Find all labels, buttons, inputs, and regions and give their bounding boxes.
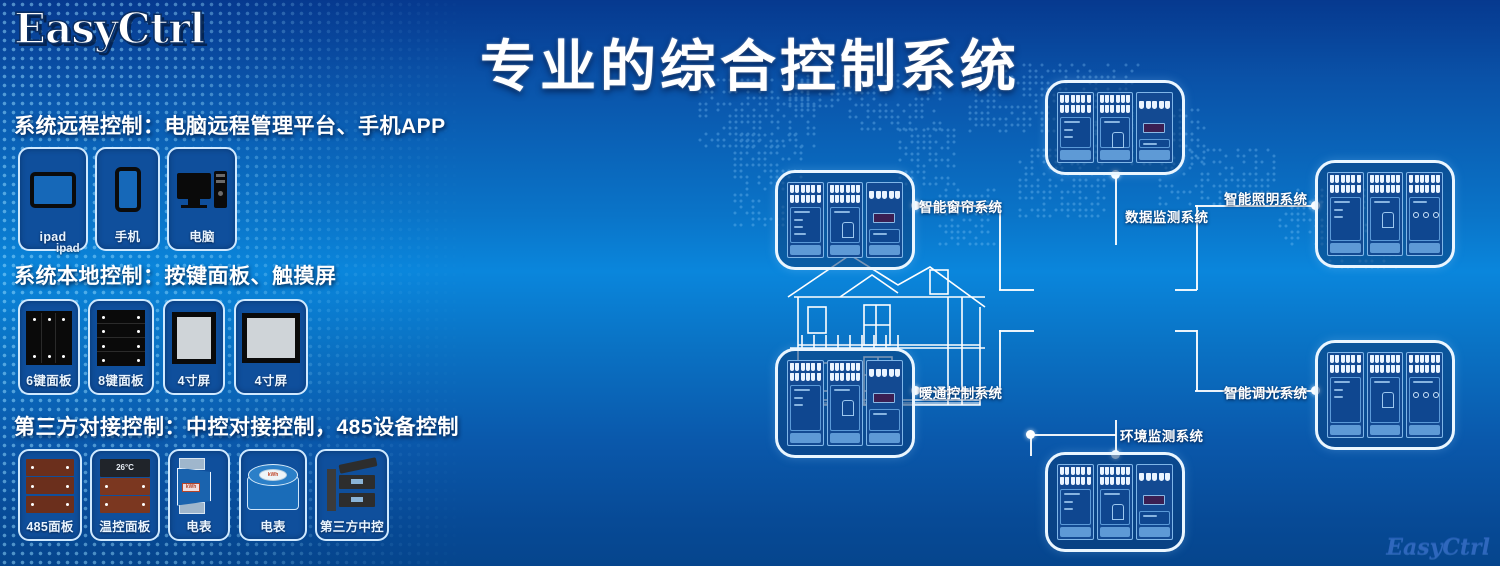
node-label-smart-curtain-system: 智能窗帘系统 (919, 196, 1002, 216)
device-card-label: 8键面板 (98, 374, 144, 389)
device-card-label: 温控面板 (99, 520, 150, 535)
device-card-label: 第三方中控 (320, 520, 384, 535)
device-card-label: 电表 (260, 520, 286, 535)
wire-dimming-v (1196, 330, 1198, 391)
round-meter-icon: kWh (241, 451, 305, 520)
thermostat-panel-icon: 26°C (92, 451, 158, 520)
device-card-label: 电脑 (189, 230, 215, 245)
device-card-4inch-screen-1[interactable]: 4寸屏 (163, 299, 225, 395)
node-label-smart-dimming-system: 智能调光系统 (1224, 382, 1307, 402)
system-topology-diagram: 智能窗帘系统 (630, 0, 1500, 566)
device-card-thermostat-panel[interactable]: 26°C 温控面板 (90, 449, 160, 541)
controller-modules (1057, 92, 1173, 163)
device-card-round-meter[interactable]: kWh 电表 (239, 449, 307, 541)
controller-module (787, 182, 824, 258)
device-card-label: 485面板 (26, 520, 73, 535)
wire-env-h (1030, 434, 1116, 436)
device-card-485-panel[interactable]: 485面板 (18, 449, 82, 541)
node-smart-dimming-system[interactable] (1315, 340, 1455, 450)
wire-data-v (1115, 175, 1117, 245)
brand-logo: EasyCtrl (14, 4, 204, 53)
controller-modules (1327, 352, 1443, 438)
controller-module (1406, 352, 1443, 438)
device-card-8key-panel[interactable]: 8键面板 (88, 299, 154, 395)
wire-curtain-in (999, 289, 1034, 291)
node-environment-monitoring-system[interactable] (1045, 452, 1185, 552)
tablet-icon (20, 149, 86, 230)
device-card-label: 电表 (186, 520, 212, 535)
din-meter-icon: kWh (170, 451, 228, 520)
controller-modules (787, 360, 903, 446)
controller-modules (787, 182, 903, 258)
device-card-phone[interactable]: 手机 (95, 147, 160, 251)
node-label-data-monitoring-system: 数据监测系统 (1125, 206, 1208, 226)
controller-module (866, 360, 903, 446)
controller-module (1097, 464, 1134, 540)
controller-module (1367, 172, 1404, 256)
controller-module (827, 360, 864, 446)
device-card-label: 4寸屏 (178, 374, 211, 389)
device-card-ipad[interactable]: ipad (18, 147, 88, 251)
controller-module (1327, 172, 1364, 256)
section-heading-local-control: 系统本地控制：按键面板、触摸屏 (14, 260, 337, 290)
meter-display-value: kWh (268, 472, 279, 478)
device-card-label: 6键面板 (26, 374, 72, 389)
node-label-environment-monitoring-system: 环境监测系统 (1120, 425, 1203, 445)
watermark: EasyCtrl (1386, 534, 1490, 560)
node-data-monitoring-system[interactable] (1045, 80, 1185, 175)
node-label-hvac-control-system: 暖通控制系统 (919, 382, 1002, 402)
third-party-controller-icon (317, 451, 387, 520)
ipad-sub-note: ipad (56, 243, 80, 255)
desktop-computer-icon (169, 149, 235, 230)
smartphone-icon (97, 149, 158, 230)
device-card-4inch-screen-2[interactable]: 4寸屏 (234, 299, 308, 395)
device-card-label: 4寸屏 (255, 374, 288, 389)
four-inch-screen-wide-icon (236, 301, 306, 374)
rs485-panel-icon (20, 451, 80, 520)
node-smart-lighting-system[interactable] (1315, 160, 1455, 268)
controller-modules (1057, 464, 1173, 540)
controller-module (787, 360, 824, 446)
controller-module (1136, 464, 1173, 540)
device-card-computer[interactable]: 电脑 (167, 147, 237, 251)
node-label-smart-lighting-system: 智能照明系统 (1224, 188, 1307, 208)
eight-key-panel-icon (90, 301, 152, 374)
controller-module (1367, 352, 1404, 438)
wire-hvac-in (999, 330, 1034, 332)
section-heading-third-party-control: 第三方对接控制：中控对接控制，485设备控制 (14, 411, 459, 441)
thermostat-display-value: 26°C (116, 463, 134, 472)
controller-module (866, 182, 903, 258)
device-card-6key-panel[interactable]: 6键面板 (18, 299, 80, 395)
controller-module (1406, 172, 1443, 256)
controller-modules (1327, 172, 1443, 256)
junction-dot-env (1026, 430, 1035, 439)
four-inch-screen-icon (165, 301, 223, 374)
device-card-din-meter[interactable]: kWh 电表 (168, 449, 230, 541)
controller-module (1327, 352, 1364, 438)
controller-module (1136, 92, 1173, 163)
device-card-third-party-controller[interactable]: 第三方中控 (315, 449, 389, 541)
wire-dimming-in (1175, 330, 1197, 332)
device-card-label: 手机 (115, 230, 141, 245)
node-smart-curtain-system[interactable] (775, 170, 915, 270)
meter-display-value: kWh (186, 484, 197, 490)
wire-curtain-v (999, 205, 1001, 290)
section-heading-remote-control: 系统远程控制：电脑远程管理平台、手机APP (14, 110, 446, 140)
controller-module (1097, 92, 1134, 163)
six-key-panel-icon (20, 301, 78, 374)
wire-lighting-in (1175, 289, 1197, 291)
controller-module (827, 182, 864, 258)
controller-module (1057, 464, 1094, 540)
controller-module (1057, 92, 1094, 163)
poster-canvas: EasyCtrl 专业的综合控制系统 系统远程控制：电脑远程管理平台、手机APP… (0, 0, 1500, 566)
node-hvac-control-system[interactable] (775, 348, 915, 458)
